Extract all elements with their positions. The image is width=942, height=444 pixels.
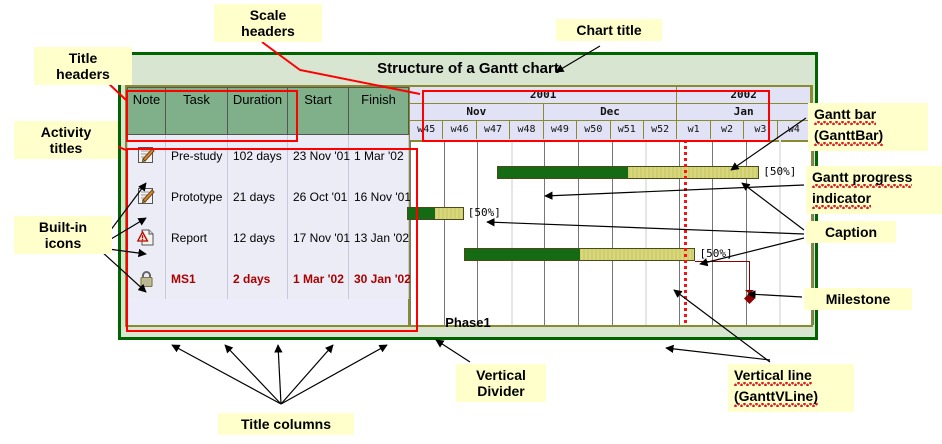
bar-caption: [50%] <box>763 165 796 178</box>
gantt-vline <box>684 140 687 325</box>
milestone-connector-h <box>695 261 749 262</box>
title-header-finish[interactable]: Finish <box>349 88 409 135</box>
annotation-title-columns: Title columns <box>218 413 354 435</box>
gantt-grid: [50%][50%][50%] <box>410 140 811 325</box>
annotation-chart-title-lbl: Chart title <box>556 19 662 41</box>
highlight-title-headers <box>126 90 298 142</box>
highlight-scale-headers <box>422 90 770 142</box>
scale-week-w4[interactable]: w4 <box>778 121 811 139</box>
bar-caption: [50%] <box>699 247 732 260</box>
annotation-built-in-icons: Built-in icons <box>14 216 112 254</box>
milestone-connector-v <box>749 261 750 291</box>
bar-report[interactable] <box>464 248 696 261</box>
annotation-milestone-lbl: Milestone <box>804 288 912 310</box>
milestone-diamond-icon[interactable] <box>743 290 756 305</box>
bar-pre-study[interactable] <box>497 166 759 179</box>
annotation-gantt-progress: Gantt progressindicator <box>806 166 942 214</box>
diagram-canvas: Structure of a Gantt chart Note Task Dur… <box>0 0 942 444</box>
chart-title: Structure of a Gantt chart <box>121 60 815 77</box>
annotation-activity-titles: Activity titles <box>14 121 118 159</box>
highlight-activity-titles <box>126 148 418 332</box>
gantt-progress-indicator <box>498 167 628 178</box>
annotation-vertical-divider: Vertical Divider <box>456 364 546 402</box>
grid-line <box>444 140 445 325</box>
gantt-progress-indicator <box>465 249 580 260</box>
annotation-scale-headers: Scale headers <box>214 4 322 42</box>
bar-caption: [50%] <box>468 206 501 219</box>
grid-line <box>477 140 478 325</box>
annotation-gantt-bar: Gantt bar(GanttBar) <box>808 103 928 151</box>
annotation-caption: Caption <box>806 221 896 243</box>
annotation-vertical-line: Vertical line(GanttVLine) <box>728 364 854 412</box>
annotation-title-headers: Title headers <box>34 47 132 85</box>
